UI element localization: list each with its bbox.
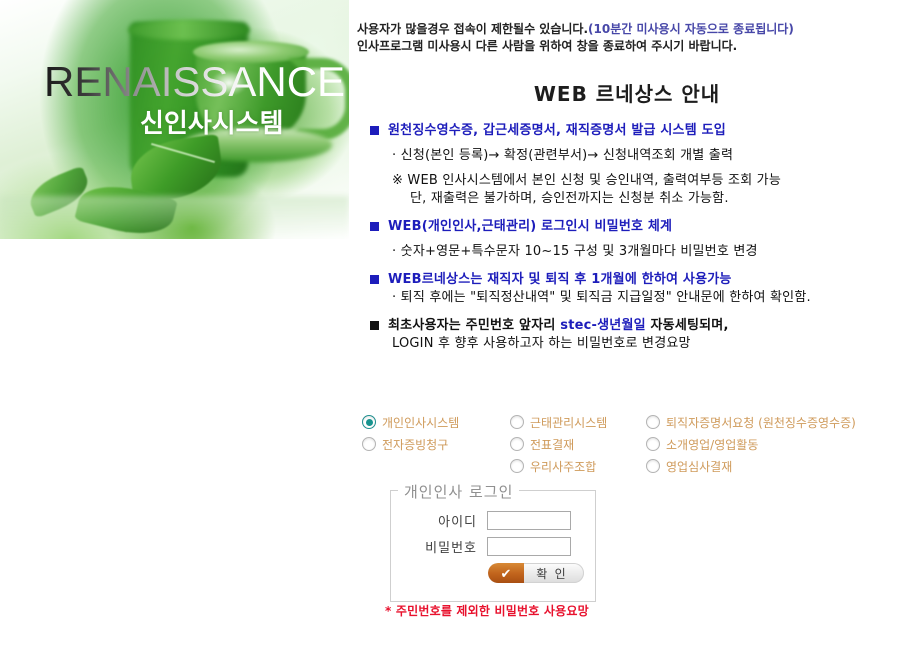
announcement-heading-pre: 최초사용자는 주민번호 앞자리 [388,318,560,333]
announcement-heading-text: WEB(개인인사,근태관리) 로그인시 비밀번호 체계 [388,219,672,234]
announcement-heading-accent: stec-생년월일 [560,318,646,333]
banner-foreground-haze [0,196,349,239]
announcement-heading: WEB(개인인사,근태관리) 로그인시 비밀번호 체계 [370,218,910,235]
announcement-heading-text: 원천징수영수증, 갑근세증명서, 재직증명서 발급 시스템 도입 [388,123,726,138]
system-selector-column-2: 근태관리시스템 전표결재 우리사주조합 [510,412,646,478]
radio-option-referral-sales[interactable]: 소개영업/영업활동 [646,434,910,454]
radio-icon[interactable] [646,437,660,451]
login-id-row: 아이디 [405,511,571,530]
square-bullet-icon [370,222,379,231]
announcement-subline: · 숫자+영문+특수문자 10~15 구성 및 3개월마다 비밀번호 변경 [370,243,910,260]
tea-cup-back-rim-shape [128,20,250,40]
radio-option-e-evidence[interactable]: 전자증빙청구 [362,434,510,454]
radio-option-slip-approval[interactable]: 전표결재 [510,434,646,454]
radio-label: 영업심사결재 [666,458,732,475]
radio-icon[interactable] [646,415,660,429]
password-warning-text: * 주민번호를 제외한 비밀번호 사용요망 [385,602,589,619]
announcement-heading: WEB르네상스는 재직자 및 퇴직 후 1개월에 한하여 사용가능 [370,271,910,288]
radio-option-sales-review-approval[interactable]: 영업심사결재 [646,456,910,476]
brand-banner: RENAISSANCE 신인사시스템 [0,0,349,239]
square-bullet-icon [370,275,379,284]
login-submit-label: 확 인 [524,565,584,582]
notice-line-2: 인사프로그램 미사용시 다른 사람을 위하여 창을 종료하여 주시기 바랍니다. [357,38,897,55]
radio-label: 근태관리시스템 [530,414,607,431]
announcement-group-4: 최초사용자는 주민번호 앞자리 stec-생년월일 자동세팅되며, LOGIN … [370,317,910,352]
session-notice: 사용자가 많을경우 접속이 제한될수 있습니다.(10분간 미사용시 자동으로 … [357,21,897,55]
check-icon: ✔ [488,563,524,583]
system-selector-columns: 개인인사시스템 전자증빙청구 근태관리시스템 전표결재 우리사주조합 [362,412,910,478]
login-panel-legend: 개인인사 로그인 [398,481,519,502]
announcement-list: 원천징수영수증, 갑근세증명서, 재직증명서 발급 시스템 도입 · 신청(본인… [370,122,910,363]
radio-option-personal-hr[interactable]: 개인인사시스템 [362,412,510,432]
radio-icon[interactable] [362,437,376,451]
login-password-label: 비밀번호 [405,537,487,556]
announcement-subline: 단, 재출력은 불가하며, 승인전까지는 신청분 취소 가능함. [370,190,910,207]
system-selector: 개인인사시스템 전자증빙청구 근태관리시스템 전표결재 우리사주조합 [362,412,910,478]
announcement-subline: LOGIN 후 향후 사용하고자 하는 비밀번호로 변경요망 [370,335,910,352]
square-bullet-icon [370,321,379,330]
radio-label: 퇴직자증명서요청 (원천징수증영수증) [666,414,856,431]
radio-option-retiree-certificate[interactable]: 퇴직자증명서요청 (원천징수증영수증) [646,412,910,432]
announcement-heading: 최초사용자는 주민번호 앞자리 stec-생년월일 자동세팅되며, [370,317,910,334]
notice-line-1: 사용자가 많을경우 접속이 제한될수 있습니다.(10분간 미사용시 자동으로 … [357,21,897,38]
announcement-subline: · 퇴직 후에는 "퇴직정산내역" 및 퇴직금 지급일정" 안내문에 한하여 확… [370,289,910,306]
announcement-subline: · 신청(본인 등록)→ 확정(관련부서)→ 신청내역조회 개별 출력 [370,147,910,164]
radio-label: 전표결재 [530,436,574,453]
radio-label: 우리사주조합 [530,458,596,475]
radio-label: 전자증빙청구 [382,436,448,453]
radio-label: 개인인사시스템 [382,414,459,431]
radio-icon[interactable] [646,459,660,473]
announcement-subline: ※ WEB 인사시스템에서 본인 신청 및 승인내역, 출력여부등 조회 가능 [370,172,910,189]
radio-option-esop[interactable]: 우리사주조합 [510,456,646,476]
login-submit-button[interactable]: ✔ 확 인 [488,563,584,583]
login-password-row: 비밀번호 [405,537,571,556]
announcement-heading-post: 자동세팅되며, [646,318,729,333]
announcement-heading: 원천징수영수증, 갑근세증명서, 재직증명서 발급 시스템 도입 [370,122,910,139]
login-id-input[interactable] [487,511,571,530]
radio-icon[interactable] [510,415,524,429]
notice-line-1-main: 사용자가 많을경우 접속이 제한될수 있습니다. [357,22,588,36]
radio-icon[interactable] [510,459,524,473]
radio-label: 소개영업/영업활동 [666,436,758,453]
radio-option-attendance[interactable]: 근태관리시스템 [510,412,646,432]
login-id-label: 아이디 [405,511,487,530]
announcement-group-3: WEB르네상스는 재직자 및 퇴직 후 1개월에 한하여 사용가능 · 퇴직 후… [370,271,910,306]
system-selector-column-3: 퇴직자증명서요청 (원천징수증영수증) 소개영업/영업활동 영업심사결재 [646,412,910,478]
announcement-heading-text: WEB르네상스는 재직자 및 퇴직 후 1개월에 한하여 사용가능 [388,272,732,287]
page-title: WEB 르네상스 안내 [357,78,897,107]
radio-icon-checked[interactable] [362,415,376,429]
login-password-input[interactable] [487,537,571,556]
brand-wordmark: RENAISSANCE [44,58,345,106]
brand-subtitle: 신인사시스템 [140,103,284,140]
announcement-group-1: 원천징수영수증, 갑근세증명서, 재직증명서 발급 시스템 도입 · 신청(본인… [370,122,910,207]
announcement-group-2: WEB(개인인사,근태관리) 로그인시 비밀번호 체계 · 숫자+영문+특수문자… [370,218,910,260]
system-selector-column-1: 개인인사시스템 전자증빙청구 [362,412,510,478]
notice-line-1-paren: (10분간 미사용시 자동으로 종료됩니다) [588,22,794,36]
radio-icon[interactable] [510,437,524,451]
square-bullet-icon [370,126,379,135]
